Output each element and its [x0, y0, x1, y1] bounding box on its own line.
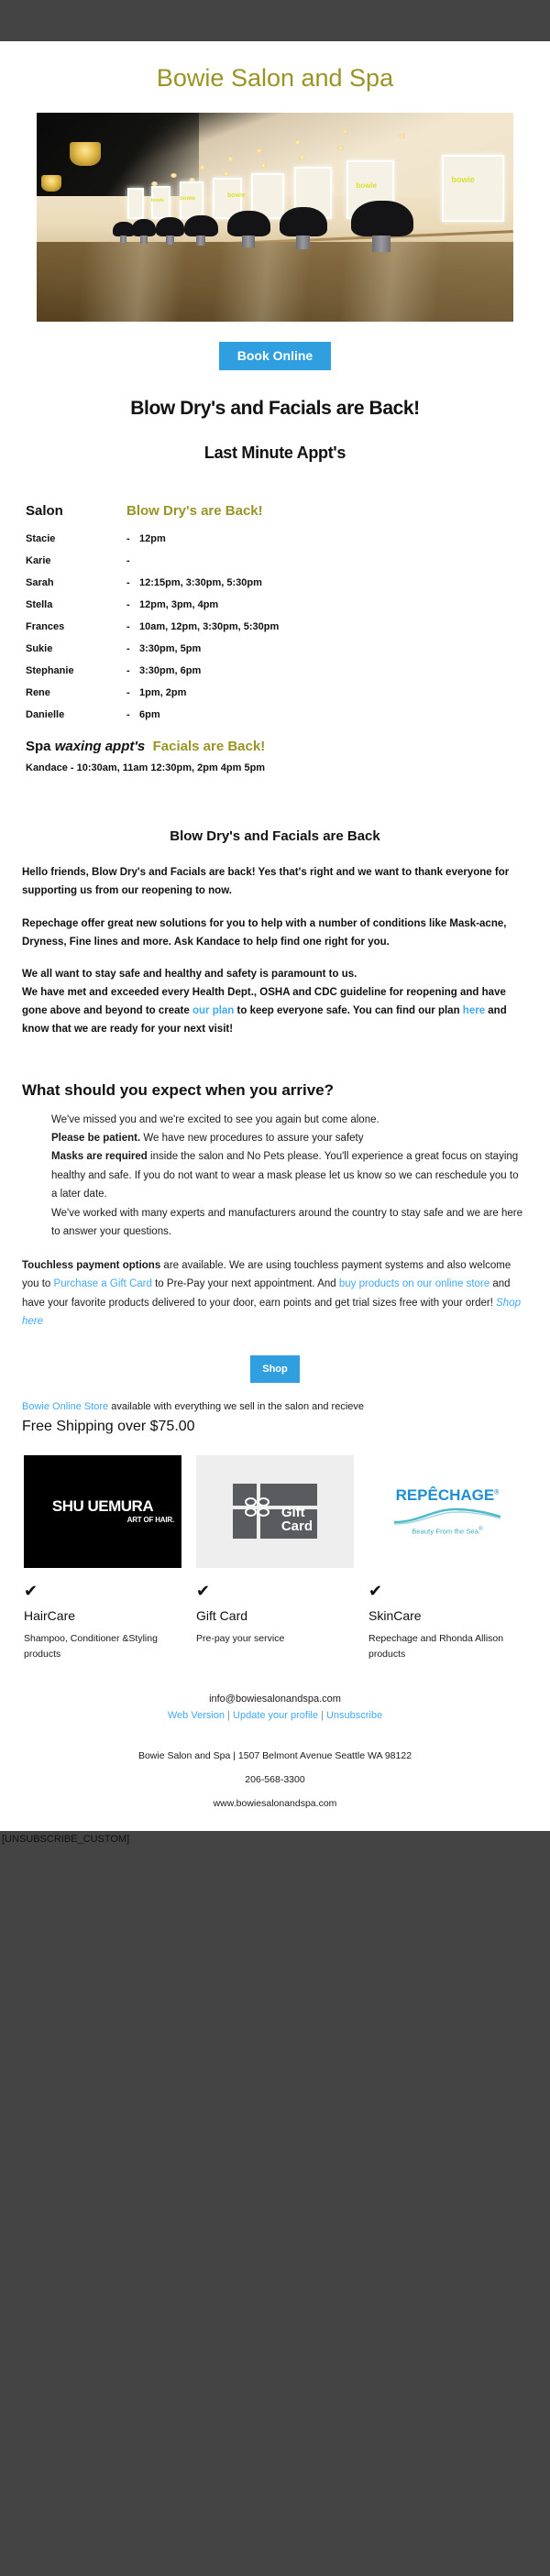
link-separator: | [318, 1710, 326, 1721]
be-patient-bold: Please be patient. [51, 1133, 140, 1144]
online-store-text: available with everything we sell in the… [108, 1401, 364, 1412]
salon-interior-photo: bowie bowie bowie bowie bowie [37, 113, 513, 322]
touchless-payment-paragraph: Touchless payment options are available.… [13, 1242, 537, 1332]
table-row: Frances - 10am, 12pm, 3:30pm, 5:30pm [26, 616, 537, 638]
table-row: Danielle - 6pm [26, 704, 537, 726]
spa-label-italic: waxing appt's [55, 739, 146, 754]
repechage-text: REPÊCHAGE [396, 1486, 495, 1504]
table-row: Stella - 12pm, 3pm, 4pm [26, 594, 537, 616]
section-heading: Blow Dry's and Facials are Back [13, 773, 537, 844]
unsubscribe-token: [UNSUBSCRIBE_CUSTOM] [0, 1831, 550, 1845]
our-plan-link[interactable]: our plan [192, 1005, 234, 1016]
headline-main: Blow Dry's and Facials are Back! [13, 370, 537, 420]
salon-logo-decal: bowie [227, 192, 246, 199]
row-dash: - [126, 638, 139, 660]
footer-links: Web Version | Update your profile | Unsu… [22, 1705, 528, 1721]
touchless-bold: Touchless payment options [22, 1260, 160, 1271]
here-link[interactable]: here [463, 1005, 485, 1016]
row-dash: - [126, 594, 139, 616]
bowie-online-store-link[interactable]: Bowie Online Store [22, 1401, 108, 1412]
column-header-blowdry: Blow Dry's are Back! [126, 503, 537, 528]
free-shipping-text: Free Shipping over $75.00 [13, 1412, 537, 1435]
repechage-tagline-text: Beauty From the Sea [412, 1528, 478, 1536]
paragraph-3: We all want to stay safe and healthy and… [22, 966, 528, 1038]
table-row: Stephanie - 3:30pm, 6pm [26, 660, 537, 682]
feature-desc: Shampoo, Conditioner &Styling products [24, 1623, 181, 1663]
book-online-row: Book Online [13, 322, 537, 370]
footer-address: Bowie Salon and Spa | 1507 Belmont Avenu… [22, 1721, 528, 1761]
stylist-name: Stella [26, 594, 126, 616]
check-icon: ✔ [24, 1583, 181, 1599]
table-header-row: Salon Blow Dry's are Back! [26, 503, 537, 528]
email-footer: info@bowiesalonandspa.com Web Version | … [13, 1662, 537, 1831]
be-patient-text: We have new procedures to assure your sa… [140, 1133, 363, 1144]
appointments-section: Salon Blow Dry's are Back! Stacie - 12pm… [13, 463, 537, 773]
feature-desc: Pre-pay your service [196, 1623, 354, 1647]
table-row: Sarah - 12:15pm, 3:30pm, 5:30pm [26, 572, 537, 594]
repechage-wordmark: REPÊCHAGE® [396, 1487, 500, 1503]
row-dash: - [126, 572, 139, 594]
check-icon: ✔ [368, 1583, 526, 1599]
salon-logo-decal: bowie [451, 175, 475, 184]
spa-appointment-row: Kandace - 10:30am, 11am 12:30pm, 2pm 4pm… [26, 754, 537, 773]
expect-line-4: We've worked with many experts and manuf… [51, 1204, 524, 1242]
card-word: Card [281, 1519, 313, 1533]
expect-body: We've missed you and we're excited to se… [13, 1100, 537, 1242]
expect-line-3: Masks are required inside the salon and … [51, 1147, 524, 1203]
masks-required-bold: Masks are required [51, 1151, 148, 1162]
feature-giftcard: ✔ Gift Card Pre-pay your service [196, 1583, 354, 1663]
stylist-name: Stephanie [26, 660, 126, 682]
spa-section-header: Spa waxing appt's Facials are Back! [26, 726, 537, 754]
stylist-name: Sukie [26, 638, 126, 660]
hero-image-wrap: bowie bowie bowie bowie bowie [13, 113, 537, 322]
shu-uemura-logo[interactable]: SHU UEMURA ART OF HAIR. [24, 1455, 181, 1568]
stylist-name: Karie [26, 550, 126, 572]
shu-uemura-wordmark: SHU UEMURA [52, 1498, 153, 1514]
chandelier-icon [70, 142, 101, 166]
row-dash: - [126, 682, 139, 704]
touchless-text-2: to Pre-Pay your next appointment. And [152, 1278, 339, 1289]
row-dash: - [126, 704, 139, 726]
salon-logo-decal: bowie [180, 196, 195, 202]
row-dash: - [126, 660, 139, 682]
row-dash: - [126, 550, 139, 572]
stylist-times: 3:30pm, 5pm [139, 638, 537, 660]
shu-uemura-tagline: ART OF HAIR. [127, 1516, 174, 1524]
intro-body: Hello friends, Blow Dry's and Facials ar… [13, 844, 537, 1038]
product-card-skincare: REPÊCHAGE® Beauty From the Sea® [368, 1455, 526, 1568]
email-top-frame [0, 0, 550, 41]
stylist-times: 6pm [139, 704, 537, 726]
stylist-times: 1pm, 2pm [139, 682, 537, 704]
gift-word: Gift [281, 1506, 313, 1519]
spa-label: Spa [26, 739, 55, 754]
link-separator: | [225, 1710, 233, 1721]
footer-website: www.bowiesalonandspa.com [22, 1785, 528, 1831]
shop-button-row: Shop [13, 1332, 537, 1383]
stylist-times: 12:15pm, 3:30pm, 5:30pm [139, 572, 537, 594]
book-online-button[interactable]: Book Online [219, 342, 331, 370]
stylist-name: Stacie [26, 528, 126, 550]
feature-title: Gift Card [196, 1599, 354, 1623]
unsubscribe-link[interactable]: Unsubscribe [326, 1710, 382, 1721]
gift-card-logo[interactable]: Gift Card [196, 1455, 354, 1568]
stylist-name: Frances [26, 616, 126, 638]
stylist-name: Rene [26, 682, 126, 704]
table-row: Karie - [26, 550, 537, 572]
purchase-gift-card-link[interactable]: Purchase a Gift Card [54, 1278, 152, 1289]
repechage-logo[interactable]: REPÊCHAGE® Beauty From the Sea® [368, 1455, 526, 1568]
email-bottom-frame: [UNSUBSCRIBE_CUSTOM] [0, 1831, 550, 1893]
appointments-table: Salon Blow Dry's are Back! Stacie - 12pm… [26, 503, 537, 726]
feature-title: SkinCare [368, 1599, 526, 1623]
bow-icon [245, 1497, 272, 1518]
feature-title: HairCare [24, 1599, 181, 1623]
table-row: Sukie - 3:30pm, 5pm [26, 638, 537, 660]
expect-line-1: We've missed you and we're excited to se… [51, 1111, 524, 1129]
safety-line-3: to keep everyone safe. You can find our … [234, 1005, 462, 1016]
email-body: Bowie Salon and Spa [0, 41, 550, 1831]
feature-haircare: ✔ HairCare Shampoo, Conditioner &Styling… [24, 1583, 181, 1663]
column-header-salon: Salon [26, 503, 126, 528]
repechage-tagline: Beauty From the Sea® [412, 1526, 483, 1536]
product-card-giftcard: Gift Card [196, 1455, 354, 1568]
online-store-line: Bowie Online Store available with everyt… [13, 1383, 537, 1412]
web-version-link[interactable]: Web Version [168, 1710, 225, 1721]
stylist-name: Sarah [26, 572, 126, 594]
email-page: Bowie Salon and Spa [0, 0, 550, 1893]
safety-line-1: We all want to stay safe and healthy and… [22, 969, 357, 980]
page-title: Bowie Salon and Spa [13, 41, 537, 113]
update-profile-link[interactable]: Update your profile [233, 1710, 318, 1721]
spa-accent-label [145, 739, 152, 754]
shop-button[interactable]: Shop [250, 1355, 300, 1383]
expect-heading: What should you expect when you arrive? [13, 1054, 537, 1100]
salon-logo-decal: bowie [151, 198, 164, 203]
features-row: ✔ HairCare Shampoo, Conditioner &Styling… [13, 1568, 537, 1663]
online-store-link[interactable]: buy products on our online store [339, 1278, 489, 1289]
product-card-haircare: SHU UEMURA ART OF HAIR. [24, 1455, 181, 1568]
product-tiles-row: SHU UEMURA ART OF HAIR. [13, 1435, 537, 1568]
gift-card-text: Gift Card [281, 1506, 313, 1533]
facials-accent-label: Facials are Back! [153, 739, 266, 754]
stylist-times [139, 550, 537, 572]
feature-skincare: ✔ SkinCare Repechage and Rhonda Allison … [368, 1583, 526, 1663]
feature-desc: Repechage and Rhonda Allison products [368, 1623, 526, 1663]
chandelier-icon [41, 175, 61, 192]
table-row: Rene - 1pm, 2pm [26, 682, 537, 704]
stylist-times: 12pm, 3pm, 4pm [139, 594, 537, 616]
footer-phone: 206-568-3300 [22, 1761, 528, 1785]
stylist-times: 3:30pm, 6pm [139, 660, 537, 682]
salon-logo-decal: bowie [356, 181, 377, 190]
wave-icon [368, 1505, 526, 1525]
check-icon: ✔ [196, 1583, 354, 1599]
headline-sub: Last Minute Appt's [13, 420, 537, 463]
paragraph-2: Repechage offer great new solutions for … [22, 915, 528, 952]
table-row: Stacie - 12pm [26, 528, 537, 550]
footer-email: info@bowiesalonandspa.com [22, 1694, 528, 1705]
stylist-name: Danielle [26, 704, 126, 726]
expect-line-2: Please be patient. We have new procedure… [51, 1129, 524, 1147]
stylist-times: 10am, 12pm, 3:30pm, 5:30pm [139, 616, 537, 638]
row-dash: - [126, 528, 139, 550]
stylist-times: 12pm [139, 528, 537, 550]
paragraph-1: Hello friends, Blow Dry's and Facials ar… [22, 864, 528, 901]
gift-card-icon: Gift Card [233, 1484, 317, 1539]
row-dash: - [126, 616, 139, 638]
